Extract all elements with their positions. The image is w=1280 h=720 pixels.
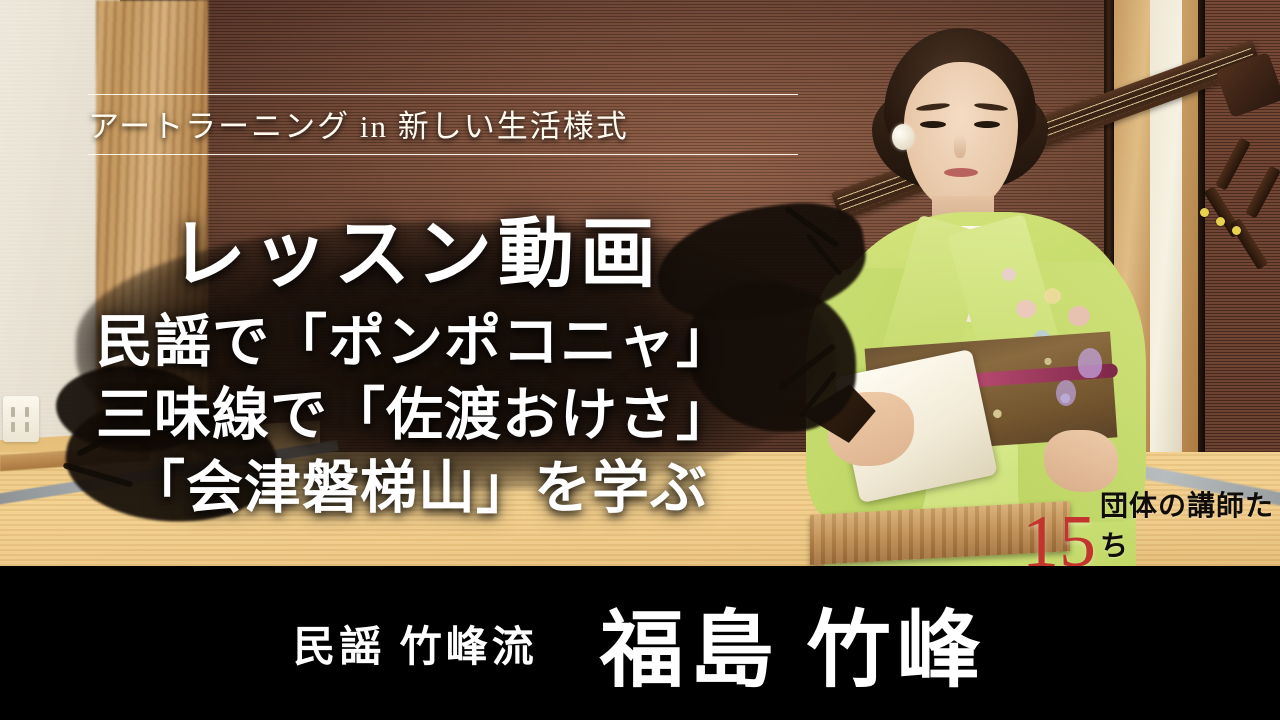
subtitle-line-2: 三味線で「佐渡おけさ」 <box>96 369 734 451</box>
headline-title: レッスン動画 <box>170 192 662 302</box>
badge-label: 団体の講師たち <box>1100 484 1280 564</box>
subtitle-line-3: 「会津磐梯山」を学ぶ <box>128 442 708 524</box>
lower-name-band: 民謡 竹峰流 福島 竹峰 <box>0 566 1280 720</box>
text-overlay: アートラーニング in 新しい生活様式 レッスン動画 民謡で「ポンポコニャ」 三… <box>0 0 1280 566</box>
subtitle-line-1: 民謡で「ポンポコニャ」 <box>96 296 734 378</box>
school-name: 民謡 竹峰流 <box>293 613 538 674</box>
thumbnail-card: アートラーニング in 新しい生活様式 レッスン動画 民謡で「ポンポコニャ」 三… <box>0 0 1280 720</box>
instructor-count-badge: 15 団体の講師たち <box>1022 484 1280 572</box>
performer-name: 福島 竹峰 <box>600 583 987 704</box>
program-eyebrow: アートラーニング in 新しい生活様式 <box>88 94 798 155</box>
badge-number: 15 <box>1022 514 1096 572</box>
